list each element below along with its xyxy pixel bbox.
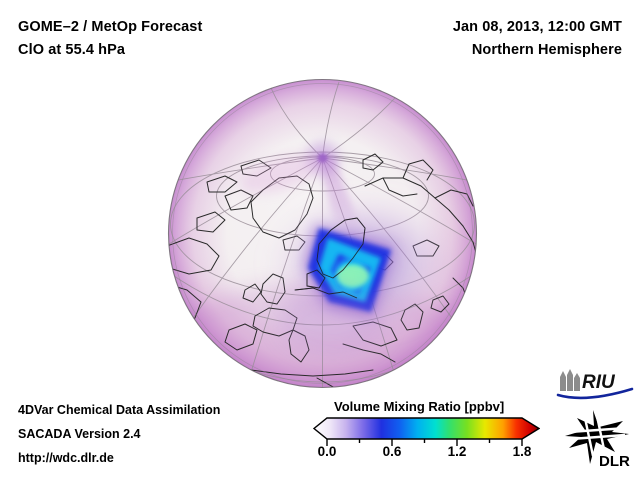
- colorbar-title: Volume Mixing Ratio [ppbv]: [334, 399, 504, 414]
- footer-url[interactable]: http://wdc.dlr.de: [18, 451, 114, 465]
- colorbar-tick-label: 0.6: [383, 444, 402, 459]
- riu-tower-icon: [560, 369, 580, 391]
- header-instrument-line: GOME–2 / MetOp Forecast: [18, 19, 202, 35]
- riu-logo: RIU: [556, 368, 634, 402]
- colorbar-tick-labels: 0.00.61.21.8: [310, 444, 540, 464]
- header-datetime: Jan 08, 2013, 12:00 GMT: [453, 19, 622, 35]
- colorbar-tick-label: 1.2: [448, 444, 467, 459]
- footer-method: 4DVar Chemical Data Assimilation: [18, 403, 220, 417]
- figure-canvas: GOME–2 / MetOp Forecast ClO at 55.4 hPa …: [0, 0, 640, 480]
- colorbar-tick-label: 0.0: [318, 444, 337, 459]
- colorbar-gradient-strip: [314, 418, 539, 439]
- colorbar-tick-label: 1.8: [513, 444, 532, 459]
- header-region: Northern Hemisphere: [472, 42, 622, 58]
- riu-wordmark: RIU: [582, 372, 616, 393]
- header-species-line: ClO at 55.4 hPa: [18, 42, 125, 58]
- dlr-wordmark: DLR: [599, 453, 630, 470]
- footer-version: SACADA Version 2.4: [18, 427, 141, 441]
- dlr-logo: DLR: [563, 408, 635, 470]
- globe-map: [167, 78, 478, 389]
